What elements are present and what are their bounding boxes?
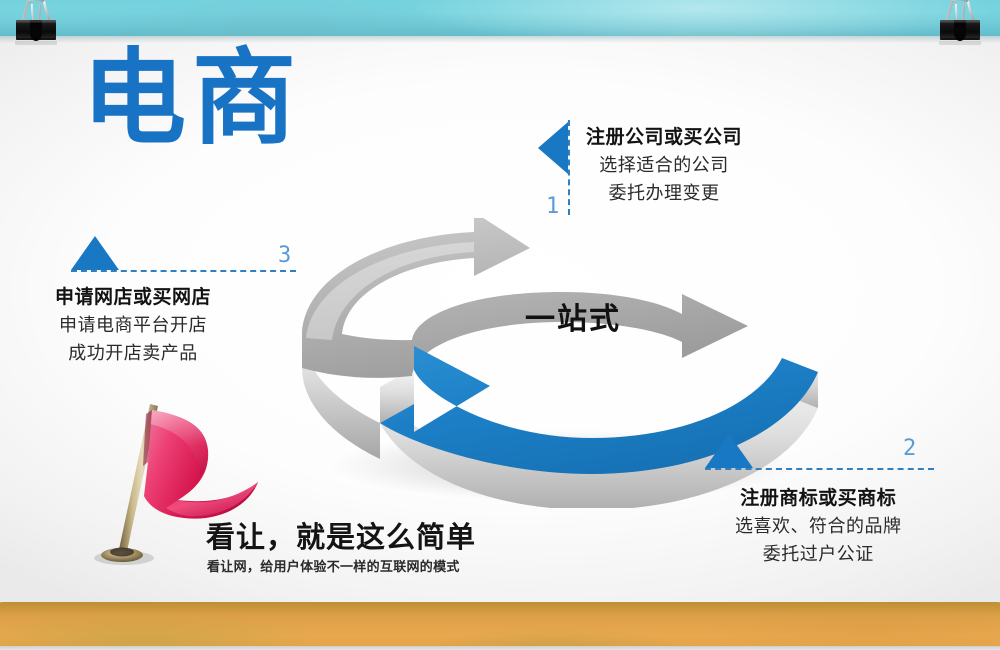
bottom-wheat-bottom-edge: [0, 646, 1000, 650]
callout-2-heading: 注册商标或买商标: [735, 483, 902, 510]
callout-3-dash-line: [71, 270, 296, 272]
binder-clip-icon: [934, 0, 986, 50]
bottom-wheat-band: [0, 602, 1000, 650]
callout-1-line-1: 选择适合的公司: [586, 151, 742, 177]
callout-1: 注册公司或买公司 选择适合的公司 委托办理变更: [586, 122, 742, 205]
footer-subtitle: 看让网，给用户体验不一样的互联网的模式: [207, 556, 460, 575]
callout-2-line-2: 委托过户公证: [735, 540, 902, 566]
callout-3-heading: 申请网店或买网店: [55, 282, 211, 309]
callout-3-line-2: 成功开店卖产品: [55, 339, 211, 365]
triangle-left-icon: [538, 122, 568, 174]
poster-canvas: 电商: [0, 0, 1000, 650]
callout-2: 注册商标或买商标 选喜欢、符合的品牌 委托过户公证: [735, 483, 902, 566]
callout-1-heading: 注册公司或买公司: [586, 122, 742, 149]
callout-3-line-1: 申请电商平台开店: [55, 311, 211, 337]
callout-1-line-2: 委托办理变更: [586, 179, 742, 205]
callout-2-number: 2: [903, 436, 916, 461]
binder-clip-icon: [10, 0, 62, 50]
cycle-diagram: [262, 218, 862, 508]
callout-1-dash-line: [568, 120, 570, 215]
callout-1-number: 1: [546, 194, 559, 219]
top-banner-band: [0, 0, 1000, 36]
callout-2-line-1: 选喜欢、符合的品牌: [735, 512, 902, 538]
callout-3: 申请网店或买网店 申请电商平台开店 成功开店卖产品: [55, 282, 211, 365]
bottom-wheat-fill: [0, 602, 1000, 650]
page-title: 电商: [82, 46, 302, 150]
callout-2-dash-line: [705, 468, 934, 470]
callout-3-number: 3: [278, 243, 291, 268]
footer-tagline: 看让，就是这么简单: [206, 514, 476, 556]
triangle-up-icon: [705, 434, 753, 468]
triangle-up-icon: [71, 236, 119, 270]
